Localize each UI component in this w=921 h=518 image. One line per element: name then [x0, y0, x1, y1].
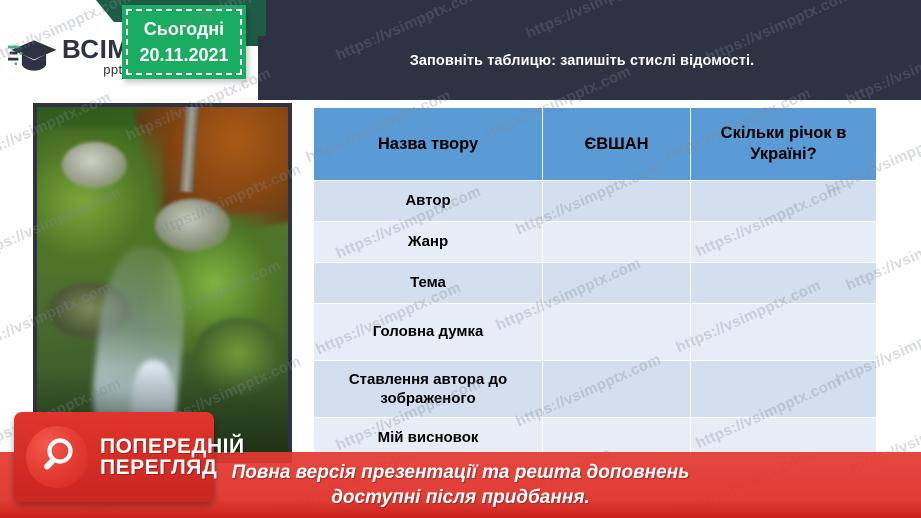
page-title: Заповніть таблицю: запишіть стислі відом… [410, 53, 755, 69]
table-row[interactable]: Ставлення автора до зображеного [314, 361, 877, 418]
purchase-banner-text: Повна версія презентації та решта доповн… [232, 460, 690, 510]
date-badge: Сьогодні 20.11.2021 [122, 5, 246, 79]
logo-title: ВСІМ [62, 36, 129, 62]
cell-attitude-yevshan[interactable] [543, 361, 691, 418]
cell-main-idea-yevshan[interactable] [543, 304, 691, 361]
table-row[interactable]: Головна думка [314, 304, 877, 361]
magnifier-icon [26, 426, 88, 488]
column-header-yevshan: ЄВШАН [543, 108, 691, 181]
slide-canvas: Заповніть таблицю: запишіть стислі відом… [0, 0, 921, 518]
table-row[interactable]: Автор [314, 181, 877, 222]
row-label-genre: Жанр [314, 222, 543, 263]
row-label-author: Автор [314, 181, 543, 222]
table-row[interactable]: Жанр [314, 222, 877, 263]
date-badge-label: Сьогодні [144, 16, 224, 42]
header-bar: Заповніть таблицю: запишіть стислі відом… [258, 36, 906, 86]
cell-genre-rivers[interactable] [691, 222, 877, 263]
graduation-cap-icon [8, 35, 60, 77]
navy-bottom-strip [258, 86, 921, 100]
logo-subtitle: pptx [62, 63, 129, 76]
column-header-rivers: Скільки річок в Україні? [691, 108, 877, 181]
navy-top-strip [258, 0, 921, 36]
info-table: Назва твору ЄВШАН Скільки річок в Україн… [313, 107, 877, 459]
banner-line-1: Повна версія презентації та решта доповн… [232, 460, 690, 485]
cell-author-rivers[interactable] [691, 181, 877, 222]
preview-badge-line-2: ПЕРЕГЛЯД [100, 457, 245, 478]
date-badge-value: 20.11.2021 [139, 42, 228, 68]
row-label-author-attitude: Ставлення автора до зображеного [314, 361, 543, 418]
table-header-row: Назва твору ЄВШАН Скільки річок в Україн… [314, 108, 877, 181]
cell-genre-yevshan[interactable] [543, 222, 691, 263]
cell-main-idea-rivers[interactable] [691, 304, 877, 361]
navy-right-strip [906, 0, 921, 100]
cell-author-yevshan[interactable] [543, 181, 691, 222]
cell-theme-rivers[interactable] [691, 263, 877, 304]
cell-theme-yevshan[interactable] [543, 263, 691, 304]
banner-line-2: доступні після придбання. [232, 485, 690, 510]
cell-attitude-rivers[interactable] [691, 361, 877, 418]
row-label-theme: Тема [314, 263, 543, 304]
preview-badge[interactable]: ПОПЕРЕДНІЙ ПЕРЕГЛЯД [14, 412, 214, 502]
forest-stream-photo [33, 103, 292, 463]
preview-badge-line-1: ПОПЕРЕДНІЙ [100, 436, 245, 457]
table-row[interactable]: Тема [314, 263, 877, 304]
column-header-work-name: Назва твору [314, 108, 543, 181]
row-label-main-idea: Головна думка [314, 304, 543, 361]
